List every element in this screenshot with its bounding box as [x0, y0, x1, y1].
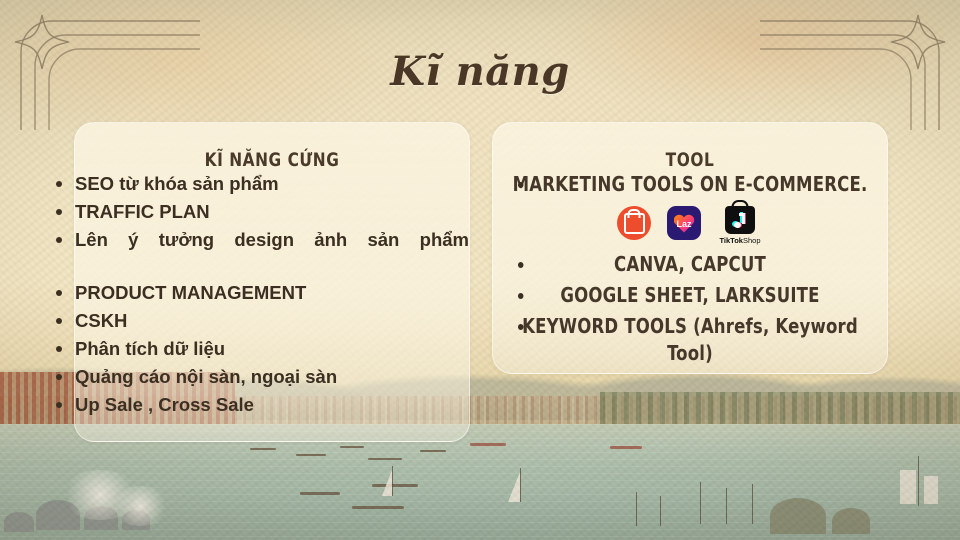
list-item: Lên ý tưởng design ảnh sản phẩm	[75, 227, 469, 277]
shopee-logo: S	[617, 206, 651, 240]
list-item: MARKETING TOOLS ON E-COMMERCE.	[509, 171, 871, 198]
tiktok-shop-label: TikTokShop	[717, 236, 763, 245]
tiktok-shop-logo: TikTokShop	[717, 206, 763, 245]
tool-list-secondary: CANVA, CAPCUT GOOGLE SHEET, LARKSUITE KE…	[493, 251, 887, 367]
lazada-logo: Laz	[667, 206, 701, 240]
list-item: TRAFFIC PLAN	[75, 199, 469, 224]
list-item: SEO từ khóa sản phẩm	[75, 171, 469, 196]
list-item: PRODUCT MANAGEMENT	[75, 280, 469, 305]
tiktok-shop-label-bold: TikTok	[719, 236, 742, 245]
tiktok-shop-label-light: Shop	[743, 236, 761, 245]
list-item: CANVA, CAPCUT	[509, 251, 871, 278]
list-item: Quảng cáo nội sàn, ngoại sàn	[75, 364, 469, 389]
list-item: GOOGLE SHEET, LARKSUITE	[509, 282, 871, 309]
shopee-logo-mark: S	[630, 218, 638, 229]
tool-card: TOOL MARKETING TOOLS ON E-COMMERCE. S La…	[492, 122, 888, 374]
list-item: Up Sale , Cross Sale	[75, 392, 469, 417]
list-item: Phân tích dữ liệu	[75, 336, 469, 361]
list-item: KEYWORD TOOLS (Ahrefs, Keyword Tool)	[509, 313, 871, 367]
slide-canvas: Kĩ năng KĨ NĂNG CỨNG SEO từ khóa sản phẩ…	[0, 0, 960, 540]
page-title: Kĩ năng	[0, 48, 960, 95]
list-item: CSKH	[75, 308, 469, 333]
marketplace-logo-row: S Laz	[493, 206, 887, 245]
hard-skills-card: KĨ NĂNG CỨNG SEO từ khóa sản phẩm TRAFFI…	[74, 122, 470, 442]
tool-list: MARKETING TOOLS ON E-COMMERCE.	[493, 171, 887, 198]
lazada-logo-mark: Laz	[676, 219, 691, 229]
hard-skills-list: SEO từ khóa sản phẩm TRAFFIC PLAN Lên ý …	[75, 171, 469, 417]
tool-heading: TOOL	[513, 149, 868, 171]
tiktok-note-icon	[734, 213, 747, 228]
hard-skills-heading: KĨ NĂNG CỨNG	[95, 149, 450, 171]
